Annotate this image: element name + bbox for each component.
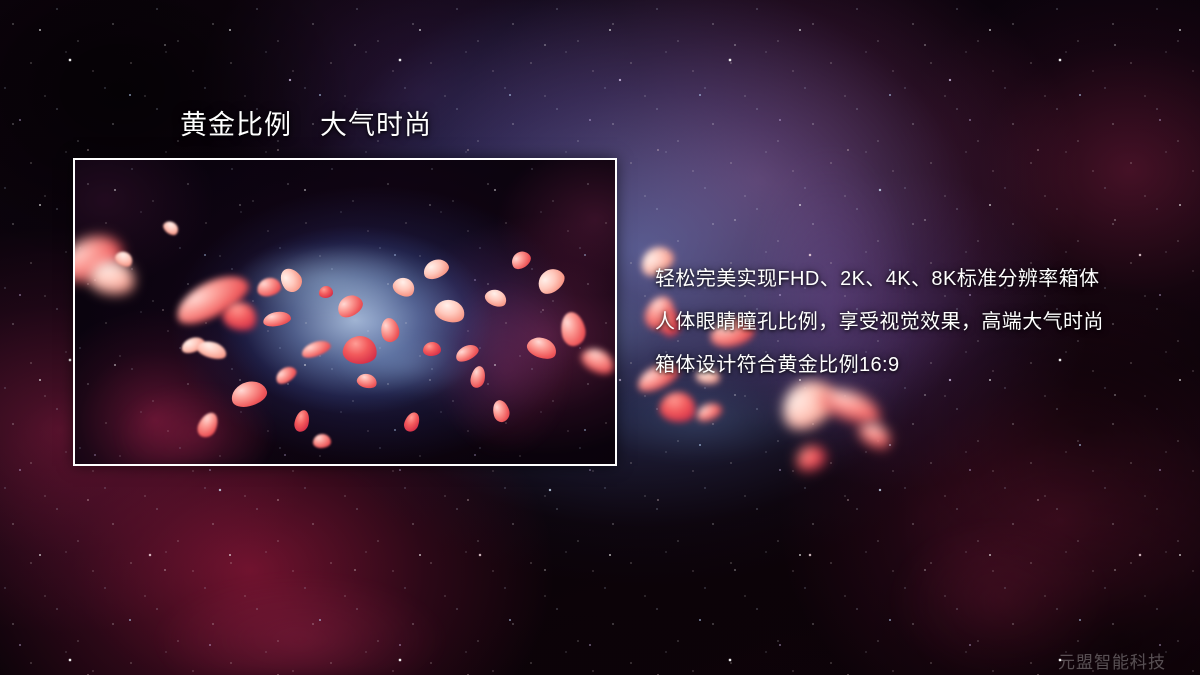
presentation-slide: 黄金比例 大气时尚 (0, 0, 1200, 675)
watermark: 元盟智能科技 (1058, 648, 1166, 673)
body-text-block: 轻松完美实现FHD、2K、4K、8K标准分辨率箱体 人体眼睛瞳孔比例，享受视觉效… (655, 258, 1175, 387)
photo-nebula-wisps (75, 160, 615, 464)
framed-photo (73, 158, 617, 466)
body-line-3: 箱体设计符合黄金比例16:9 (655, 344, 1175, 387)
body-line-1: 轻松完美实现FHD、2K、4K、8K标准分辨率箱体 (655, 258, 1175, 301)
slide-title: 黄金比例 大气时尚 (180, 103, 432, 142)
body-line-2: 人体眼睛瞳孔比例，享受视觉效果，高端大气时尚 (655, 301, 1175, 344)
